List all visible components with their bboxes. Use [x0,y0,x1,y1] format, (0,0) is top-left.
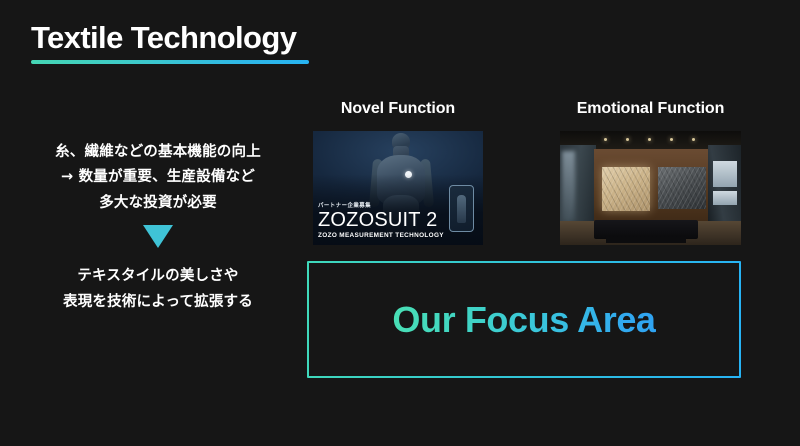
our-focus-area-label: Our Focus Area [392,299,655,341]
gallery-spotlight-4 [670,138,673,141]
gallery-window-lower [713,191,737,205]
column-label-emotional-function: Emotional Function [560,100,741,118]
phone-mockup [449,185,474,232]
paragraph-1-line-2: → 数量が重要、生産設備など [14,165,302,190]
zozosuit-caption-group: パートナー企業募集 ZOZOSUIT 2 ZOZO MEASUREMENT TE… [318,201,436,239]
column-label-novel-function: Novel Function [313,100,483,118]
gallery-spotlight-1 [604,138,607,141]
paragraph-1-line-3: 多大な投資が必要 [14,191,302,216]
paragraph-2-line-1: テキスタイルの美しさや [14,264,302,289]
down-triangle-icon [143,225,173,248]
our-focus-area-box: Our Focus Area [307,261,741,378]
paragraph-basic-function: 糸、繊維などの基本機能の向上 → 数量が重要、生産設備など 多大な投資が必要 [14,140,302,216]
gallery-bench-base [606,237,686,243]
zozosuit-caption-main: ZOZOSUIT 2 [318,210,436,230]
paragraph-2-line-2: 表現を技術によって拡張する [14,290,302,315]
gallery-window-upper [713,161,737,187]
phone-screen-figure [457,195,466,223]
paragraph-1-line-1: 糸、繊維などの基本機能の向上 [14,140,302,165]
gallery-spotlight-5 [692,138,695,141]
page-title: Textile Technology [31,22,309,64]
arrow-container [14,225,302,248]
slide-canvas: Textile Technology 糸、繊維などの基本機能の向上 → 数量が重… [0,0,800,446]
zozosuit-caption-tagline: ZOZO MEASUREMENT TECHNOLOGY [318,232,436,239]
zozosuit-caption-sub: パートナー企業募集 [318,201,436,209]
gallery-left-light-glow [562,151,575,221]
textile-gallery-photo [560,131,741,245]
textile-panel-light [602,167,650,211]
gallery-spotlight-2 [626,138,629,141]
gallery-spotlight-3 [648,138,651,141]
zozosuit-photo: パートナー企業募集 ZOZOSUIT 2 ZOZO MEASUREMENT TE… [313,131,483,245]
textile-panel-dark-texture [658,167,706,209]
paragraph-textile-beauty: テキスタイルの美しさや 表現を技術によって拡張する [14,264,302,315]
page-title-text: Textile Technology [31,22,309,55]
textile-panel-light-texture [602,167,650,211]
textile-panel-dark [658,167,706,209]
left-text-column: 糸、繊維などの基本機能の向上 → 数量が重要、生産設備など 多大な投資が必要 テ… [14,140,302,315]
title-underline-rule [31,60,309,64]
